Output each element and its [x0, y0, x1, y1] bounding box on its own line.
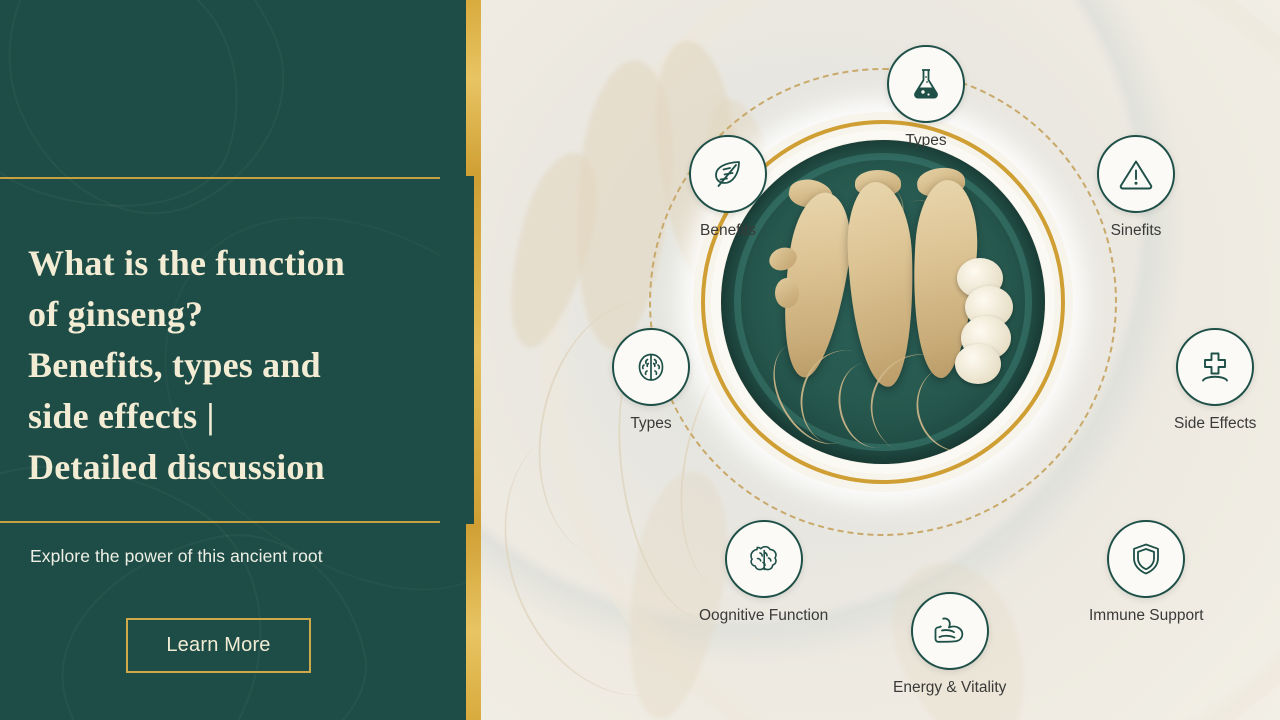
feature-node-label: Oognitive Function [699, 607, 828, 625]
flask-icon [906, 64, 946, 104]
page-title: What is the function of ginseng? Benefit… [28, 238, 448, 493]
gold-accent-bar-middle [474, 176, 481, 524]
feature-node-benefits[interactable]: Benefits [689, 135, 767, 240]
gold-accent-bar-bottom [466, 524, 481, 720]
left-green-panel: What is the function of ginseng? Benefit… [0, 0, 481, 720]
infographic-slide: What is the function of ginseng? Benefit… [0, 0, 1280, 720]
feature-node-immune-support[interactable]: Immune Support [1089, 520, 1204, 625]
node-icon-circle[interactable] [1176, 328, 1254, 406]
node-icon-circle[interactable] [1107, 520, 1185, 598]
learn-more-button[interactable]: Learn More [126, 618, 311, 673]
bicep-icon [930, 611, 970, 651]
feature-node-types-flask[interactable]: Types [887, 45, 965, 150]
ginseng-watermark [491, 144, 613, 356]
node-icon-circle[interactable] [911, 592, 989, 670]
feature-node-label: Side Effects [1174, 415, 1256, 433]
leaf-icon [708, 154, 748, 194]
feature-node-side-effects[interactable]: Side Effects [1174, 328, 1256, 433]
feature-node-label: Energy & Vitality [893, 679, 1006, 697]
feature-node-label: Benefits [700, 222, 756, 240]
feature-node-types-brain[interactable]: Types [612, 328, 690, 433]
feature-node-sinefits[interactable]: Sinefits [1097, 135, 1175, 240]
ginseng-photo [721, 140, 1045, 464]
node-icon-circle[interactable] [689, 135, 767, 213]
shield-icon [1126, 539, 1166, 579]
leaf-watermark [38, 511, 386, 720]
feature-node-label: Immune Support [1089, 607, 1204, 625]
feature-node-label: Types [905, 132, 946, 150]
node-icon-circle[interactable] [887, 45, 965, 123]
node-icon-circle[interactable] [612, 328, 690, 406]
brain-top-icon [631, 347, 671, 387]
warning-icon [1116, 154, 1156, 194]
subtitle: Explore the power of this ancient root [30, 546, 323, 567]
right-diagram-panel: Types Benefits [481, 0, 1280, 720]
medical-cross-icon [1195, 347, 1235, 387]
ginseng-nub [775, 278, 799, 308]
gold-accent-bar-top [466, 0, 481, 176]
node-icon-circle[interactable] [1097, 135, 1175, 213]
feature-node-label: Types [630, 415, 671, 433]
feature-node-cognitive-function[interactable]: Oognitive Function [699, 520, 828, 625]
node-icon-circle[interactable] [725, 520, 803, 598]
feature-node-energy-vitality[interactable]: Energy & Vitality [893, 592, 1006, 697]
brain-side-icon [744, 539, 784, 579]
ginseng-slice [955, 344, 1001, 384]
feature-node-label: Sinefits [1111, 222, 1162, 240]
green-notch [440, 176, 474, 524]
